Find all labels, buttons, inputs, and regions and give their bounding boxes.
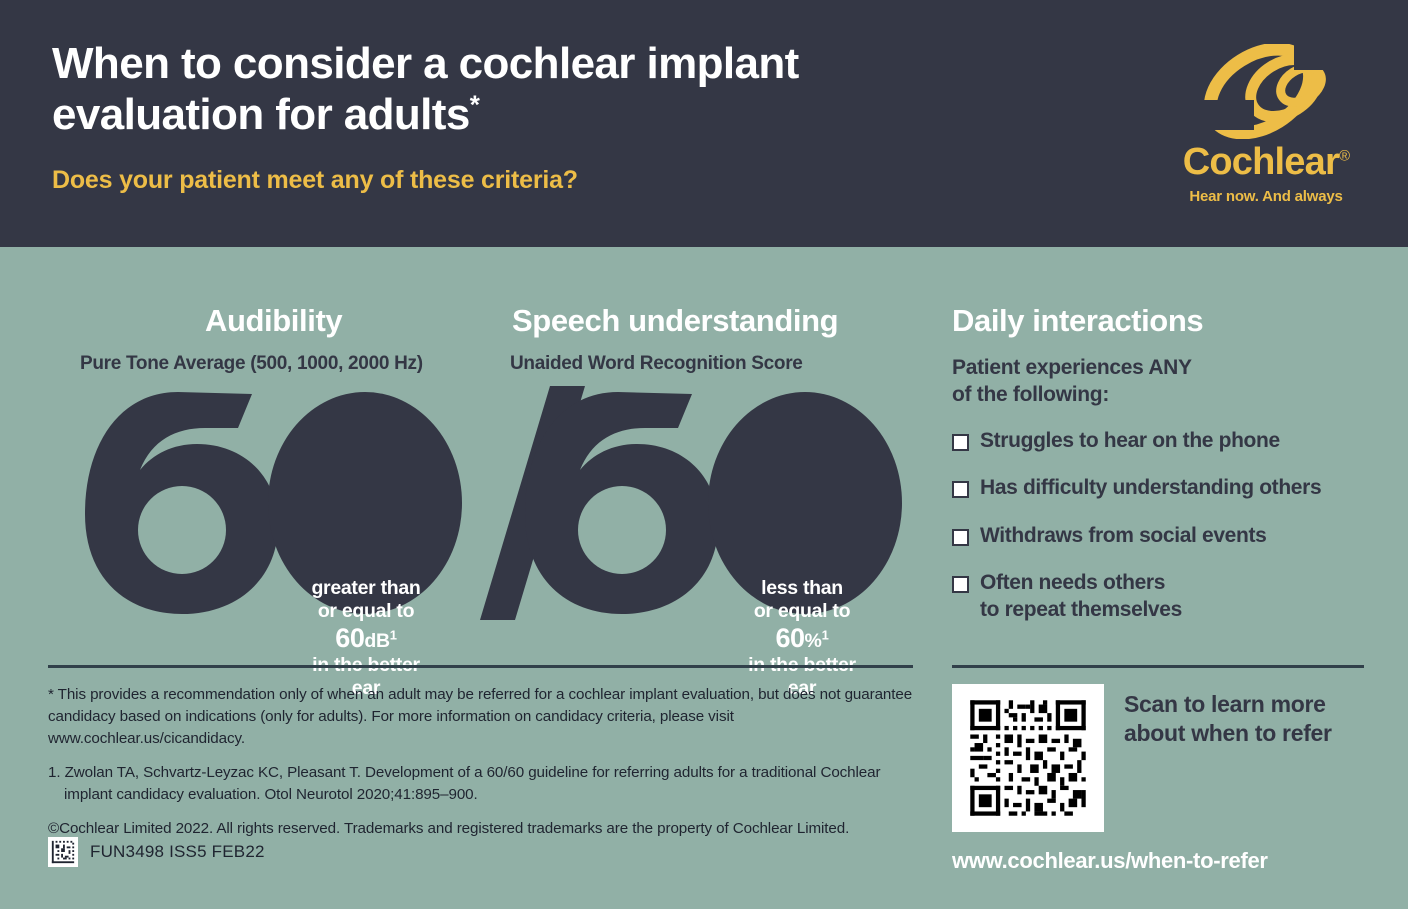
- logo-wordmark: Cochlear®: [1183, 143, 1349, 181]
- content-area: Audibility Pure Tone Average (500, 1000,…: [0, 247, 1408, 909]
- column-heading-daily: Daily interactions: [952, 303, 1203, 339]
- badge-line1: greater than: [276, 577, 456, 600]
- scan-line2: about when to refer: [1124, 719, 1374, 748]
- daily-interactions-checklist: Struggles to hear on the phone Has diffi…: [952, 427, 1382, 643]
- badge-line2: or equal to: [712, 600, 892, 623]
- column-heading-speech: Speech understanding: [512, 303, 838, 339]
- footnote-asterisk: * This provides a recommendation only of…: [48, 684, 928, 750]
- footnotes-block: * This provides a recommendation only of…: [48, 684, 928, 852]
- document-code-row: FUN3498 ISS5 FEB22: [48, 837, 265, 867]
- badge-line1: less than: [712, 577, 892, 600]
- registered-mark: ®: [1339, 147, 1349, 164]
- badge-value: 60: [775, 623, 804, 653]
- list-item[interactable]: Withdraws from social events: [952, 522, 1382, 549]
- sixty-sixty-graphic: greater than or equal to 60dB1 in the be…: [0, 382, 920, 622]
- column-subheading-speech: Unaided Word Recognition Score: [510, 353, 803, 375]
- document-code-label: FUN3498 ISS5 FEB22: [90, 842, 265, 862]
- badge-line2: or equal to: [276, 600, 456, 623]
- header-banner: When to consider a cochlear implant eval…: [0, 0, 1408, 247]
- cochlear-shell-logo-icon: [1186, 44, 1346, 139]
- page-title-line1: When to consider a cochlear implant: [52, 39, 799, 88]
- column-subheading-audibility: Pure Tone Average (500, 1000, 2000 Hz): [80, 353, 423, 375]
- page-subtitle: Does your patient meet any of these crit…: [52, 166, 578, 195]
- divider-left: [48, 665, 913, 668]
- scan-line1: Scan to learn more: [1124, 690, 1374, 719]
- qr-code-container[interactable]: [952, 684, 1104, 832]
- speech-criteria-badge: less than or equal to 60%1 in the better…: [712, 577, 892, 700]
- cochlear-logo: Cochlear® Hear now. And always: [1166, 44, 1366, 205]
- logo-tagline: Hear now. And always: [1166, 188, 1366, 205]
- badge-superscript: 1: [390, 627, 397, 642]
- daily-intro: Patient experiences ANY of the following…: [952, 355, 1192, 409]
- badge-value: 60: [335, 623, 364, 653]
- badge-superscript: 1: [822, 627, 829, 642]
- list-item-label: Has difficulty understanding others: [980, 474, 1321, 501]
- qr-code-icon[interactable]: [966, 696, 1090, 820]
- badge-unit: %: [805, 630, 822, 652]
- audibility-criteria-badge: greater than or equal to 60dB1 in the be…: [276, 577, 456, 700]
- badge-unit: dB: [364, 630, 389, 652]
- divider-right: [952, 665, 1364, 668]
- checkbox-icon[interactable]: [952, 529, 969, 546]
- page-title-line2: evaluation for adults: [52, 90, 470, 139]
- infographic-page: When to consider a cochlear implant eval…: [0, 0, 1408, 909]
- checkbox-icon[interactable]: [952, 434, 969, 451]
- page-title: When to consider a cochlear implant eval…: [52, 38, 952, 141]
- list-item[interactable]: Struggles to hear on the phone: [952, 427, 1382, 454]
- checkbox-icon[interactable]: [952, 576, 969, 593]
- title-asterisk: *: [470, 90, 480, 120]
- datamatrix-barcode-icon: [48, 837, 78, 867]
- column-heading-audibility: Audibility: [205, 303, 342, 339]
- list-item[interactable]: Often needs others to repeat themselves: [952, 569, 1382, 624]
- list-item[interactable]: Has difficulty understanding others: [952, 474, 1382, 501]
- list-item-label: Withdraws from social events: [980, 522, 1266, 549]
- referral-url[interactable]: www.cochlear.us/when-to-refer: [952, 848, 1268, 874]
- scan-instruction: Scan to learn more about when to refer: [1124, 690, 1374, 748]
- checkbox-icon[interactable]: [952, 481, 969, 498]
- daily-intro-line2: of the following:: [952, 382, 1192, 409]
- list-item-label: Often needs others to repeat themselves: [980, 569, 1182, 624]
- badge-value-row: 60dB1: [276, 623, 456, 655]
- footnote-reference-1: 1. Zwolan TA, Schvartz-Leyzac KC, Pleasa…: [48, 762, 928, 806]
- badge-value-row: 60%1: [712, 623, 892, 655]
- list-item-label: Struggles to hear on the phone: [980, 427, 1280, 454]
- daily-intro-line1: Patient experiences ANY: [952, 355, 1192, 382]
